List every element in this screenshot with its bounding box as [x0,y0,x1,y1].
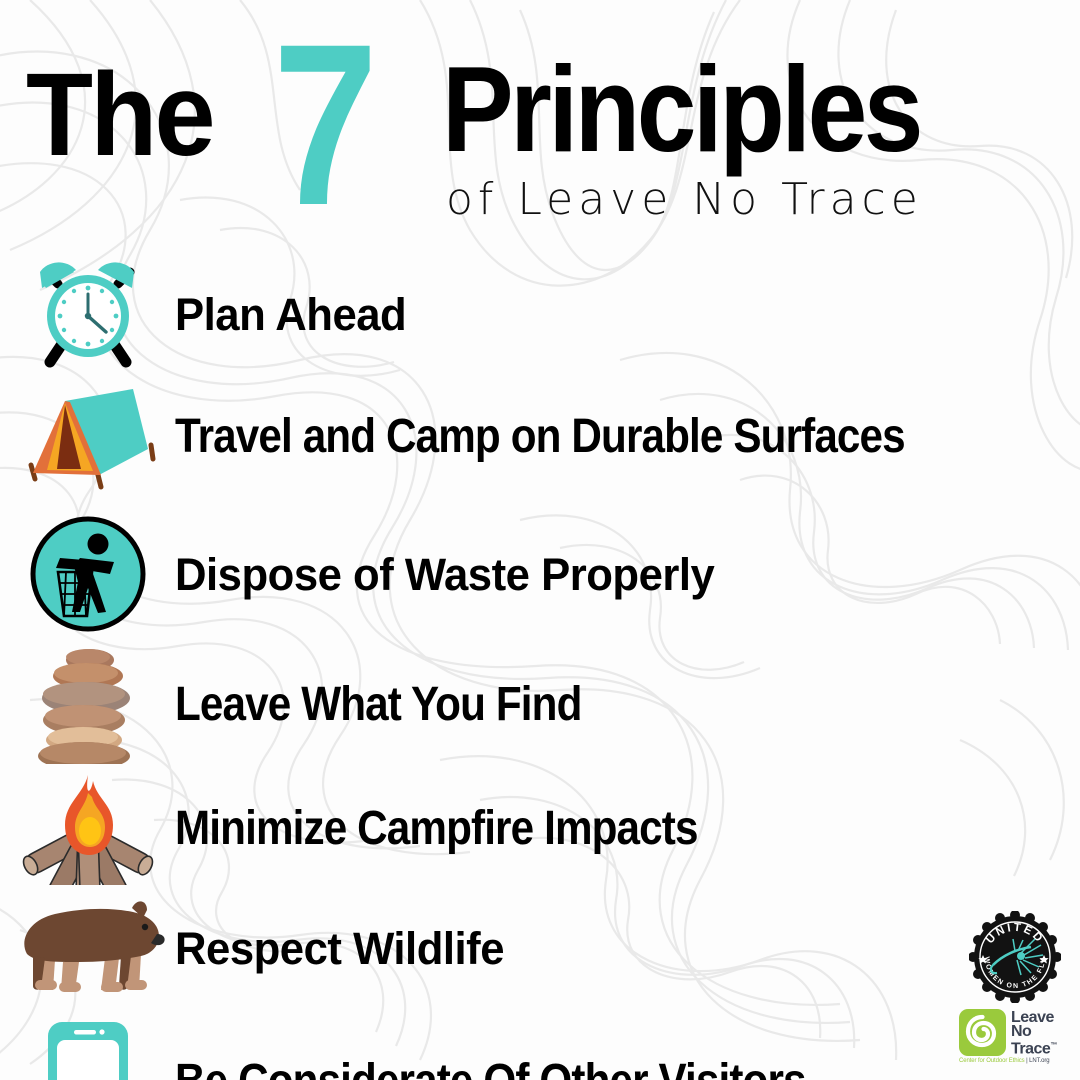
lnt-line-2: No [1011,1025,1057,1039]
principle-row-6: Respect Wildlife [0,896,1080,1000]
principle-label-5: Minimize Campfire Impacts [175,805,698,853]
principle-icon-cell [0,383,175,491]
lnt-line-3: Trace [1011,1040,1050,1057]
principle-icon-cell [0,646,175,764]
tent-icon [13,383,163,491]
subtitle: of Leave No Trace [446,174,923,225]
lnt-wordmark: Leave No Trace™ [1011,1009,1057,1056]
alarm-clock-icon [32,258,144,370]
principle-label-1: Plan Ahead [175,292,406,337]
bear-icon [9,896,167,1000]
principle-row-1: Plan Ahead [0,258,1080,370]
title-word-the: The [26,56,213,174]
logo-group: UNITED WOMEN ON THE FLY [956,911,1074,1064]
united-women-on-the-fly-badge[interactable]: UNITED WOMEN ON THE FLY [969,911,1061,1003]
rock-cairn-icon [28,646,148,764]
principle-icon-cell [0,258,175,370]
lnt-tagline: Center for Outdoor Ethics [959,1058,1025,1064]
header: 7 The Principles of Leave No Trace [0,0,1080,232]
smartphone-icon [44,1018,132,1080]
principle-icon-cell [0,896,175,1000]
campfire-icon [13,773,163,885]
principle-icon-cell [0,1018,175,1080]
title-row: 7 The Principles [18,38,1068,168]
lnt-website: LNT.org [1029,1058,1049,1064]
leave-no-trace-logo[interactable]: Leave No Trace™ Center for Outdoor Ethic… [959,1009,1071,1064]
principle-row-7: Be Considerate Of Other Visitors [0,1018,1080,1080]
principle-label-3: Dispose of Waste Properly [175,552,714,597]
principle-label-6: Respect Wildlife [175,926,504,971]
lnt-spiral-mark [959,1009,1006,1056]
lnt-tagline-row: Center for Outdoor Ethics | LNT.org [959,1058,1071,1064]
principle-label-2: Travel and Camp on Durable Surfaces [175,413,905,461]
principle-row-4: Leave What You Find [0,646,1080,764]
poster-canvas: 7 The Principles of Leave No Trace [0,0,1080,1080]
principle-row-2: Travel and Camp on Durable Surfaces [0,383,1080,491]
title-word-principles: Principles [442,48,920,170]
title-number-seven: 7 [273,10,378,240]
principle-label-7: Be Considerate Of Other Visitors [175,1058,806,1080]
lnt-trademark: ™ [1050,1042,1057,1049]
trash-disposal-icon [30,516,146,632]
principle-icon-cell [0,773,175,885]
principle-icon-cell [0,516,175,632]
lnt-divider: | [1026,1058,1027,1064]
principle-row-3: Dispose of Waste Properly [0,516,1080,632]
principle-label-4: Leave What You Find [175,681,582,729]
principle-row-5: Minimize Campfire Impacts [0,773,1080,885]
